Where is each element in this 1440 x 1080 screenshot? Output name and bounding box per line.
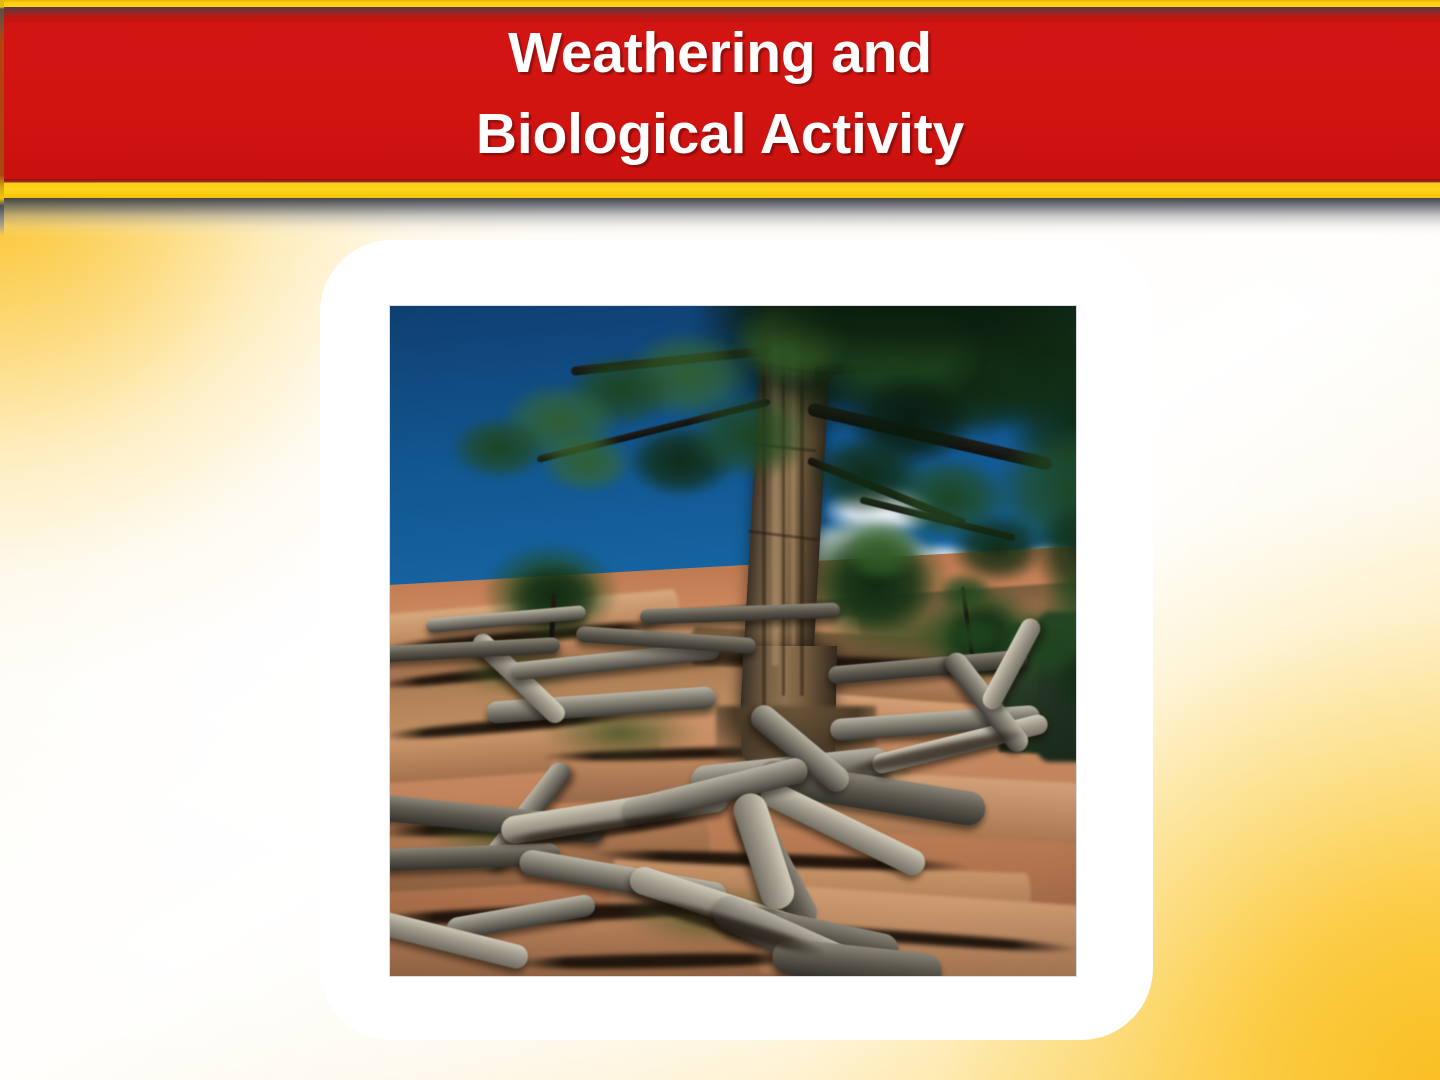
banner-top-gold-rule [0, 0, 1440, 7]
slide-title-line-1: Weathering and [508, 13, 932, 94]
banner-drop-shadow [0, 198, 1440, 238]
slide-title-banner: Weathering and Biological Activity [0, 0, 1440, 236]
presentation-slide: Weathering and Biological Activity [0, 0, 1440, 1080]
slide-title: Weathering and Biological Activity [0, 8, 1440, 180]
slide-title-line-2: Biological Activity [476, 94, 964, 175]
banner-bottom-gold-rule [0, 183, 1440, 198]
slide-photograph [390, 306, 1076, 976]
photo-vignette [390, 306, 1076, 976]
